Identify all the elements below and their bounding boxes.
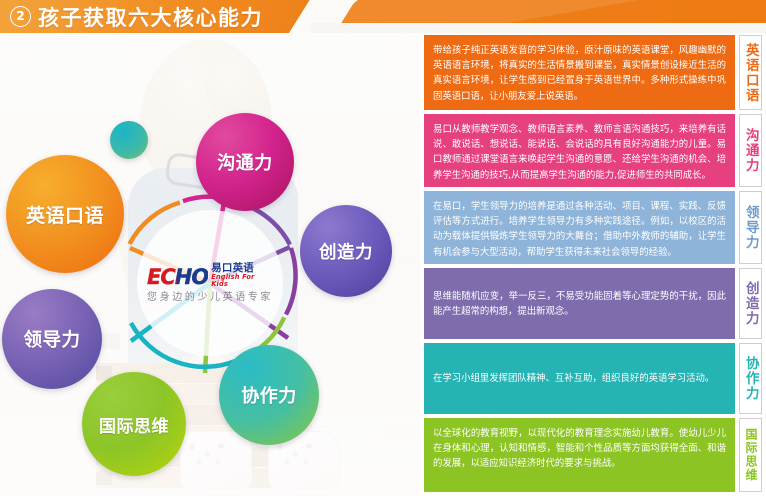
panel-tab-label: 领导力 [743,205,758,250]
bubble-label: 沟通力 [217,149,273,175]
bubble-label: 协作力 [241,382,297,408]
panel-tab-label: 协作力 [743,356,758,401]
section-number-badge: 2 [10,6,31,27]
bubble-global-thinking[interactable]: 国际思维 [82,372,186,476]
panel-text: 易口从教师教学观念、教师语言素养、教师言语沟通技巧，来培养有话说、敢说话、想说话… [424,114,735,187]
core-abilities-diagram: ECHO 易口英语 English For Kids 您身边的少儿英语专家 英语… [0,33,420,496]
panel-tab-leadership[interactable]: 领导力 [739,191,762,264]
panel-text: 在学习小组里发挥团队精神、互补互助，组织良好的英语学习活动。 [424,343,735,414]
header-title-group: 2 孩子获取六大核心能力 [10,0,263,33]
panel-tab-creativity[interactable]: 创造力 [739,268,762,339]
bubble-leadership[interactable]: 领导力 [2,289,102,389]
logo-slogan: 您身边的少儿英语专家 [147,288,273,303]
panel-creativity: 思维能随机应变，举一反三，不易受功能固着等心理定势的干扰，因此能产生超常的构想，… [424,268,762,339]
bubble-label: 创造力 [319,239,373,264]
panel-tab-english-speaking[interactable]: 英语口语 [739,35,762,110]
panel-text: 以全球化的教育视野，以现代化的教育理念实施幼儿教育。使幼儿少儿在身体和心理，认知… [424,418,735,492]
bubble-collaboration[interactable]: 协作力 [219,345,319,445]
bubble-accent-teal [110,121,148,159]
bubble-label: 领导力 [23,326,80,352]
bubble-label: 国际思维 [99,412,169,437]
panel-tab-label: 沟通力 [743,128,758,173]
panel-text: 思维能随机应变，举一反三，不易受功能固着等心理定势的干扰，因此能产生超常的构想，… [424,268,735,339]
panel-text: 带给孩子纯正英语发音的学习体验，原汁原味的英语课堂，风趣幽默的英语语言环境，将真… [424,35,735,110]
bubble-communication[interactable]: 沟通力 [196,113,294,211]
panel-english-speaking: 带给孩子纯正英语发音的学习体验，原汁原味的英语课堂，风趣幽默的英语语言环境，将真… [424,35,762,110]
page-header: 2 孩子获取六大核心能力 [0,0,766,33]
bubble-creativity[interactable]: 创造力 [300,205,392,297]
panel-global-thinking: 以全球化的教育视野，以现代化的教育理念实施幼儿教育。使幼儿少儿在身体和心理，认知… [424,418,762,492]
ring-arc-leadership [286,248,296,315]
bubble-english-speaking[interactable]: 英语口语 [6,155,124,273]
logo-en-tagline: English For Kids [211,274,273,287]
panel-tab-label: 英语口语 [743,43,758,103]
panel-tab-label: 国际思维 [744,428,757,482]
panel-tab-collaboration[interactable]: 协作力 [739,343,762,414]
panel-tab-label: 创造力 [743,281,758,326]
panel-tab-communication[interactable]: 沟通力 [739,114,762,187]
panel-leadership: 在易口，学生领导力的培养是通过各种活动、项目、课程、实践、反馈评估等方式进行。培… [424,191,762,264]
logo-wordmark: ECHO [147,268,208,287]
echo-logo: ECHO 易口英语 English For Kids 您身边的少儿英语专家 [147,261,273,305]
panel-collaboration: 在学习小组里发挥团队精神、互补互助，组织良好的英语学习活动。 协作力 [424,343,762,414]
page-title: 孩子获取六大核心能力 [38,2,263,32]
panel-text: 在易口，学生领导力的培养是通过各种活动、项目、课程、实践、反馈评估等方式进行。培… [424,191,735,264]
logo-cn-name: 易口英语 [211,263,254,274]
ability-description-panels: 带给孩子纯正英语发音的学习体验，原汁原味的英语课堂，风趣幽默的英语语言环境，将真… [420,33,766,496]
bubble-label: 英语口语 [26,201,104,228]
header-baseline-strip [311,23,766,33]
panel-tab-global-thinking[interactable]: 国际思维 [739,418,762,492]
panel-communication: 易口从教师教学观念、教师语言素养、教师言语沟通技巧，来培养有话说、敢说话、想说话… [424,114,762,187]
